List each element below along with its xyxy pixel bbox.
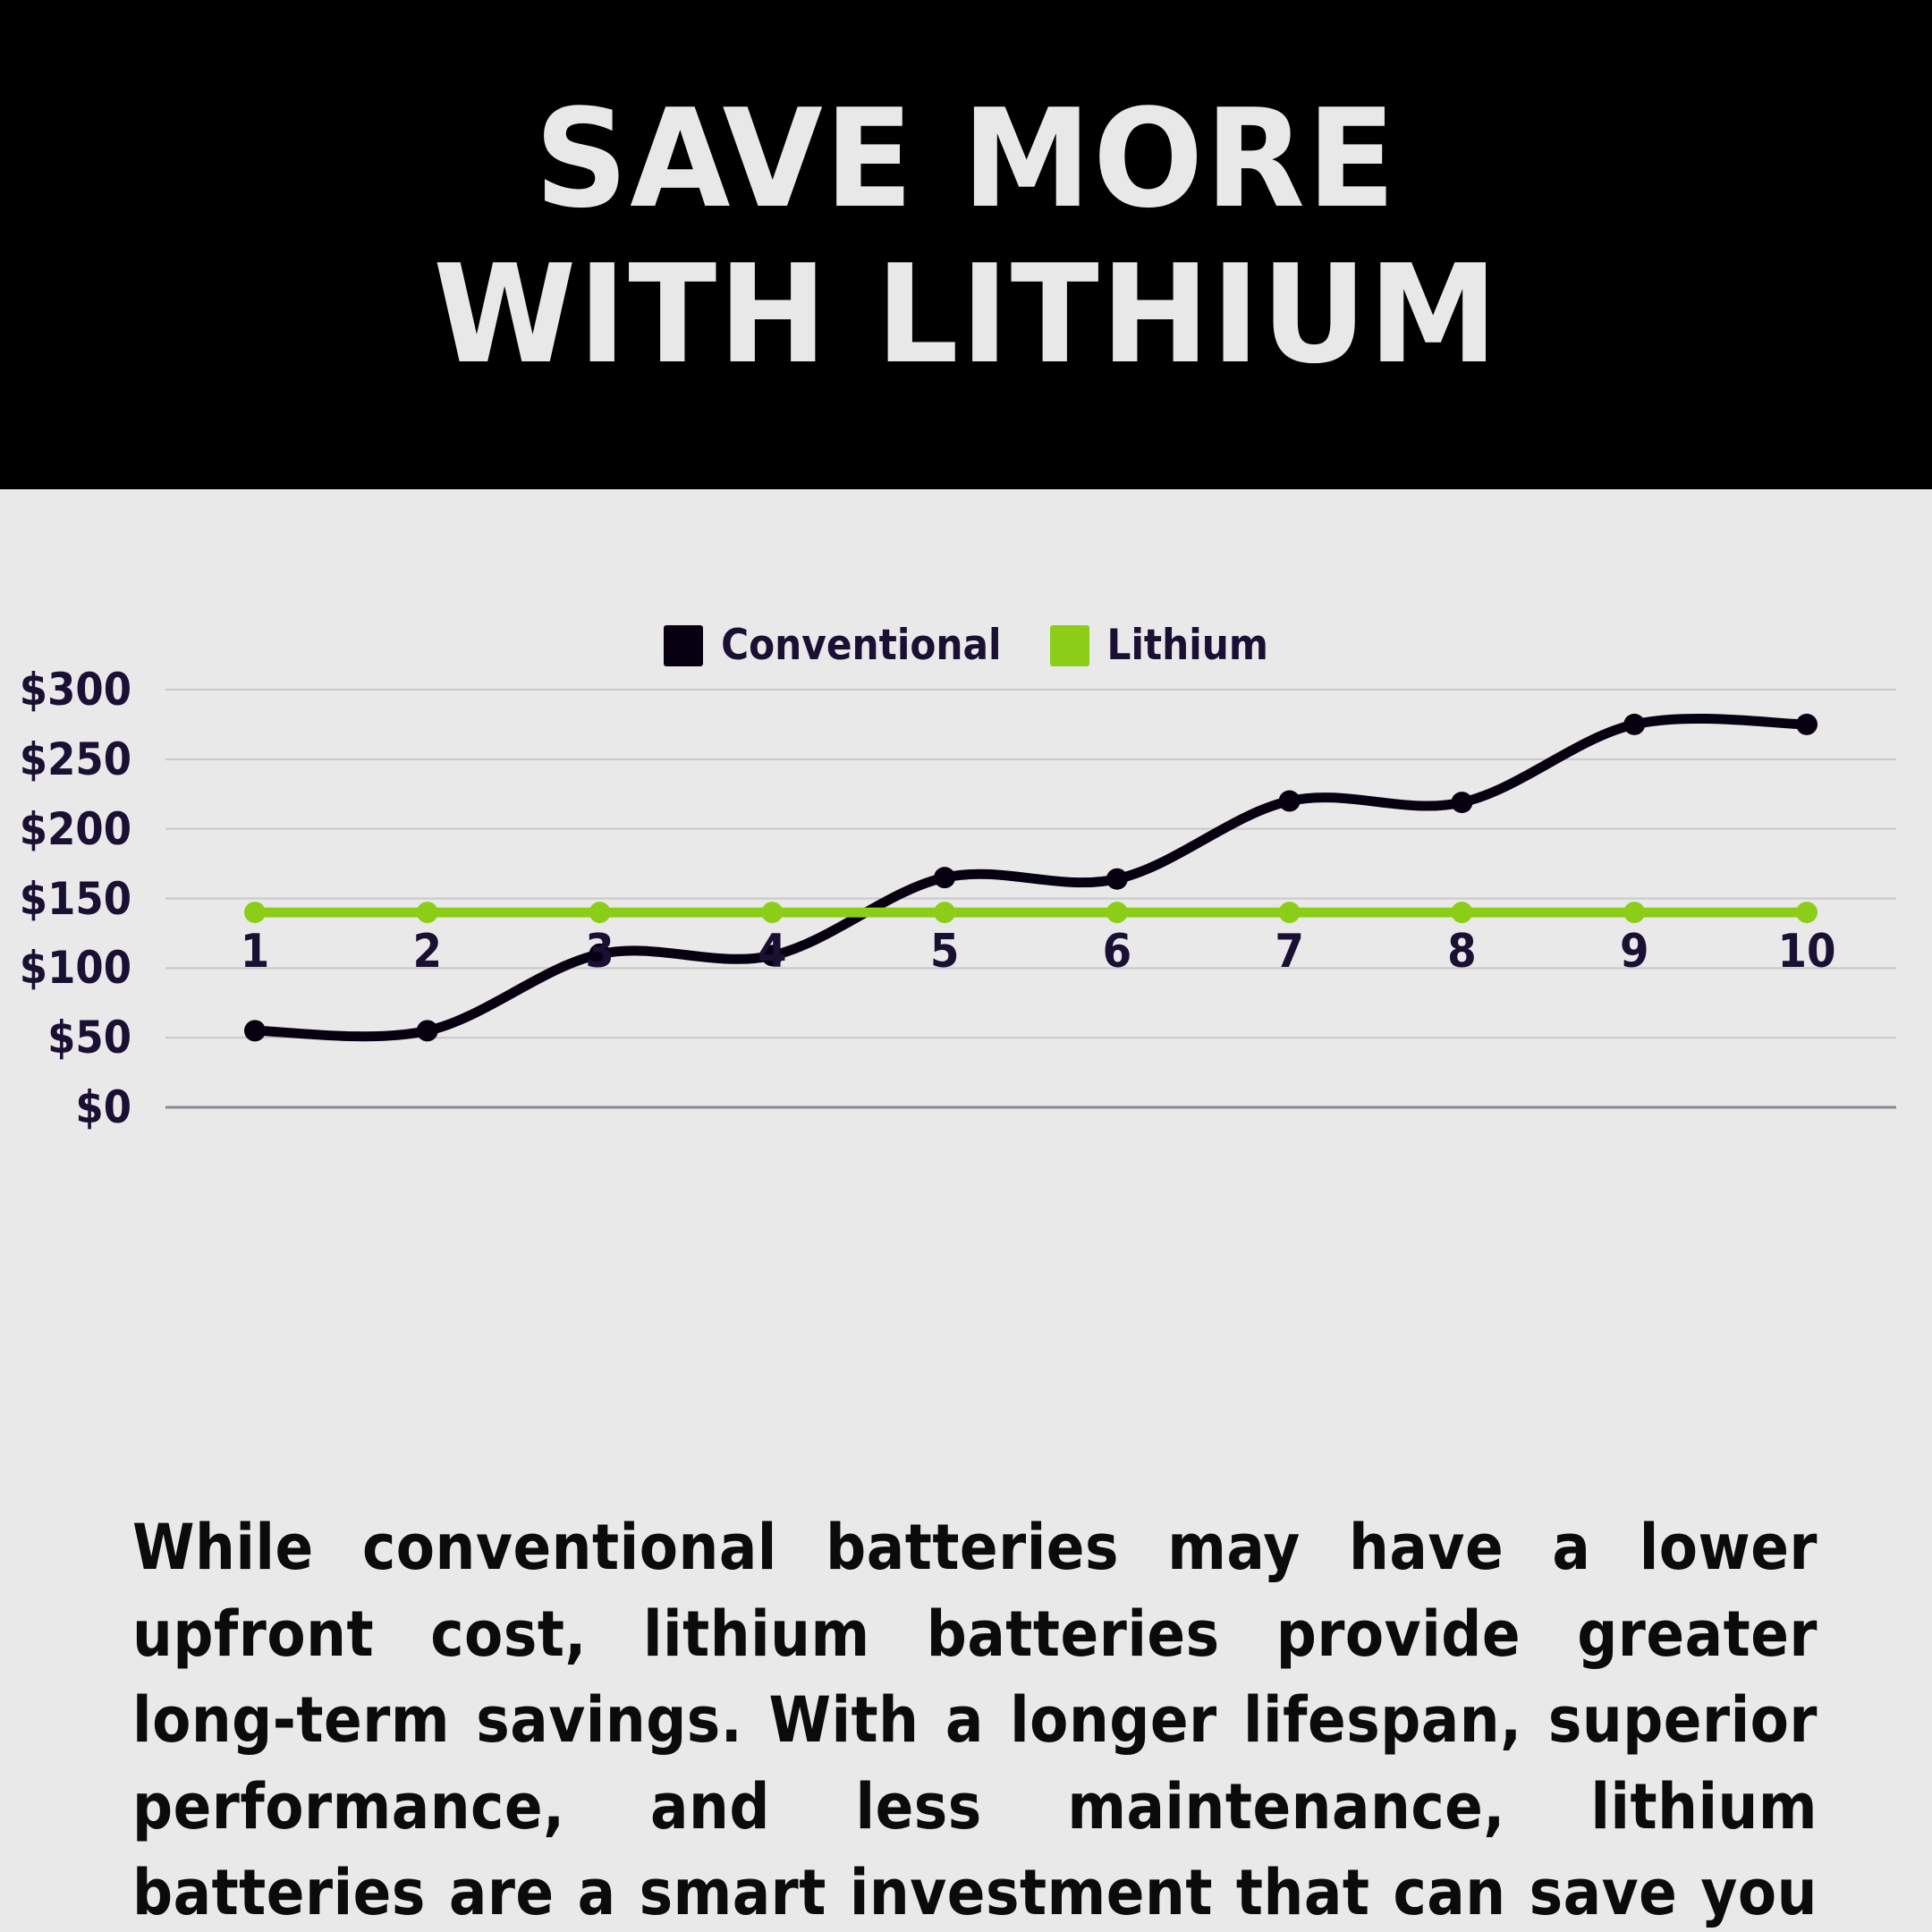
header-banner: SAVE MORE WITH LITHIUM bbox=[0, 0, 1932, 489]
body-paragraph: While conventional batteries may have a … bbox=[132, 1504, 1818, 1932]
x-axis-tick-label: 5 bbox=[930, 925, 960, 979]
x-axis-tick-label: 6 bbox=[1103, 925, 1132, 979]
page-title-line-2: WITH LITHIUM bbox=[433, 247, 1499, 383]
x-axis-tick-label: 4 bbox=[758, 925, 787, 979]
x-axis-tick-label: 3 bbox=[585, 925, 614, 979]
page-title-line-1: SAVE MORE bbox=[535, 91, 1398, 227]
x-axis-tick-label: 7 bbox=[1275, 925, 1304, 979]
x-axis-tick-label: 8 bbox=[1447, 925, 1477, 979]
x-axis-tick-label: 9 bbox=[1620, 925, 1649, 979]
poster-root: SAVE MORE WITH LITHIUM Conventional Lith… bbox=[0, 0, 1932, 1932]
chart-container: Conventional Lithium $300$250$200$150$10… bbox=[0, 489, 1932, 1393]
x-axis-tick-labels: 12345678910 bbox=[0, 489, 1932, 1393]
x-axis-tick-label: 10 bbox=[1777, 925, 1835, 979]
x-axis-tick-label: 1 bbox=[241, 925, 270, 979]
x-axis-tick-label: 2 bbox=[412, 925, 442, 979]
